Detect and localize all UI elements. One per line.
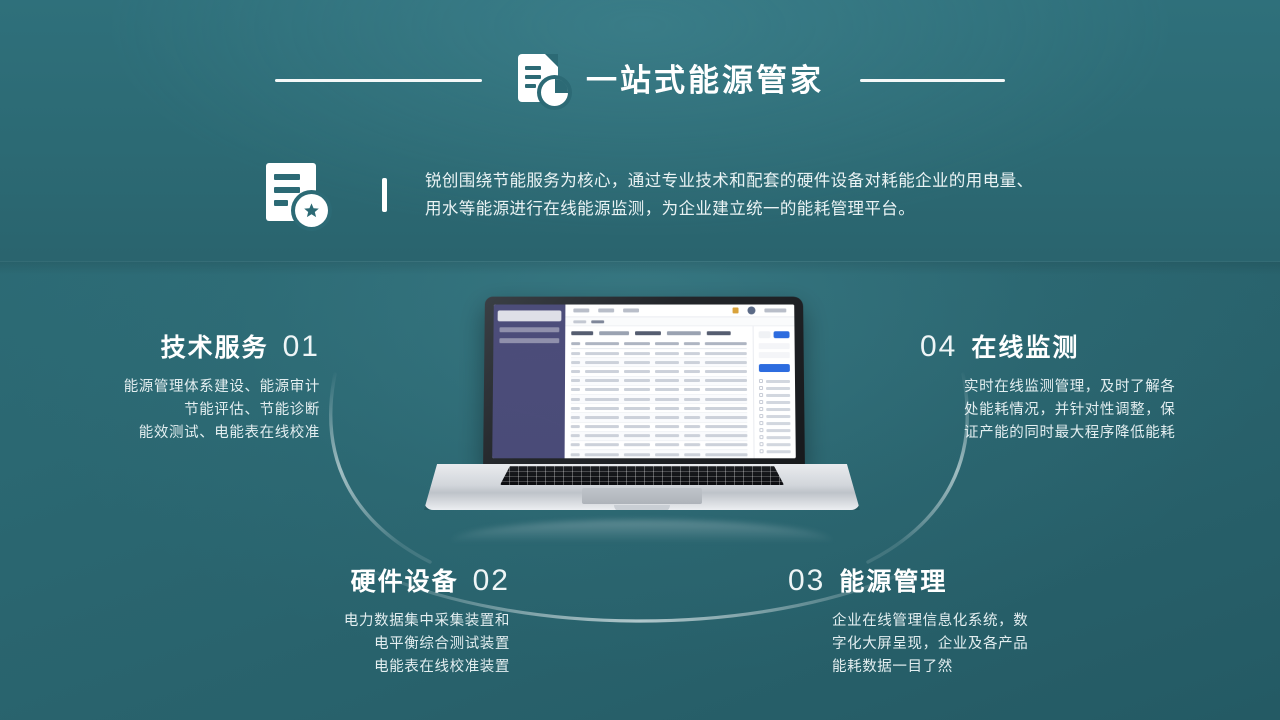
feature-line: 证产能的同时最大程序降低能耗 <box>964 422 1280 445</box>
table-row <box>571 386 747 395</box>
dashboard-filter-panel <box>753 326 796 458</box>
feature-line: 能效测试、电能表在线校准 <box>0 422 320 445</box>
intro-line-2: 用水等能源进行在线能源监测，为企业建立统一的能耗管理平台。 <box>425 195 1033 223</box>
intro-line-1: 锐创围绕节能服务为核心，通过专业技术和配套的硬件设备对耗能企业的用电量、 <box>425 167 1033 195</box>
feature-line: 电平衡综合测试装置 <box>30 633 510 656</box>
feature-block-04: 04 在线监测 实时在线监测管理，及时了解各 处能耗情况，并针对性调整，保 证产… <box>920 328 1280 445</box>
keyboard <box>500 466 784 485</box>
table-row <box>571 450 748 458</box>
dashboard-nav-item <box>499 338 559 343</box>
list-item <box>760 428 791 432</box>
feature-title: 技术服务 <box>161 328 269 364</box>
feature-number: 03 <box>788 564 825 598</box>
lid-notch <box>614 505 670 512</box>
table-row <box>571 413 747 422</box>
trackpad <box>582 488 702 504</box>
table-row <box>572 358 748 367</box>
search-row[interactable] <box>759 331 789 338</box>
feature-number: 01 <box>283 330 320 364</box>
divider-line-left-icon <box>275 79 482 82</box>
list-item <box>760 442 791 446</box>
dashboard-topbar <box>566 305 795 318</box>
dropdown-select[interactable] <box>759 343 790 349</box>
feature-line: 能源管理体系建设、能源审计 <box>0 376 320 399</box>
brand-lockup: 一站式能源管家 <box>518 54 824 106</box>
intro-block: 锐创围绕节能服务为核心，通过专业技术和配套的硬件设备对耗能企业的用电量、 用水等… <box>266 163 1033 227</box>
table-row <box>571 395 747 404</box>
title-row: 一站式能源管家 <box>0 52 1280 108</box>
document-pie-chart-icon <box>518 54 568 106</box>
list-item <box>760 414 791 418</box>
feature-title: 在线监测 <box>971 328 1079 364</box>
primary-action-button[interactable] <box>759 364 790 372</box>
feature-line: 企业在线管理信息化系统，数 <box>832 610 1208 633</box>
avatar <box>747 306 755 314</box>
page-title: 一站式能源管家 <box>586 65 824 96</box>
laptop-base <box>424 464 860 510</box>
dashboard-sidebar <box>492 305 566 459</box>
table-header <box>572 339 748 349</box>
list-item <box>760 407 791 411</box>
table-row <box>571 404 747 413</box>
intro-separator <box>382 178 387 212</box>
search-button[interactable] <box>774 331 790 338</box>
list-item <box>759 379 790 383</box>
table-row <box>571 377 747 386</box>
feature-number: 04 <box>920 330 957 364</box>
feature-title: 能源管理 <box>839 562 947 598</box>
feature-line: 节能评估、节能诊断 <box>0 399 320 422</box>
feature-line: 字化大屏呈现，企业及各产品 <box>832 633 1208 656</box>
feature-line: 能耗数据一目了然 <box>832 656 1208 679</box>
divider-line-right-icon <box>860 79 1005 82</box>
slide-canvas: 一站式能源管家 锐创围绕节能服务为核心，通过专业技术和配套的硬件设备对耗能企业的… <box>0 0 1280 720</box>
breadcrumb <box>566 317 795 326</box>
dashboard-nav-item <box>499 327 559 332</box>
dashboard-main <box>565 305 796 459</box>
table-row <box>572 349 748 358</box>
dropdown-select[interactable] <box>759 352 790 358</box>
laptop-mockup <box>424 296 860 528</box>
feature-block-03: 03 能源管理 企业在线管理信息化系统，数 字化大屏呈现，企业及各产品 能耗数据… <box>788 562 1208 679</box>
feature-block-02: 硬件设备 02 电力数据集中采集装置和 电平衡综合测试装置 电能表在线校准装置 <box>30 562 510 679</box>
list-item <box>760 449 791 453</box>
data-table <box>565 326 754 458</box>
edit-icon <box>733 307 739 313</box>
document-star-icon <box>266 163 328 227</box>
list-item <box>760 421 791 425</box>
feature-block-01: 技术服务 01 能源管理体系建设、能源审计 节能评估、节能诊断 能效测试、电能表… <box>0 328 320 445</box>
table-filters <box>572 331 747 335</box>
feature-line: 实时在线监测管理，及时了解各 <box>964 376 1280 399</box>
feature-line: 处能耗情况，并针对性调整，保 <box>964 399 1280 422</box>
table-row <box>571 367 747 376</box>
list-item <box>760 386 791 390</box>
table-row <box>571 441 748 450</box>
list-item <box>760 393 791 397</box>
laptop-lid <box>483 297 805 469</box>
feature-title: 硬件设备 <box>351 562 459 598</box>
feature-line: 电力数据集中采集装置和 <box>30 610 510 633</box>
list-item <box>760 400 791 404</box>
table-row <box>571 423 748 432</box>
laptop-reflection <box>450 520 834 542</box>
search-input[interactable] <box>759 331 771 338</box>
feature-line: 电能表在线校准装置 <box>30 656 510 679</box>
table-row <box>571 432 748 441</box>
intro-text: 锐创围绕节能服务为核心，通过专业技术和配套的硬件设备对耗能企业的用电量、 用水等… <box>425 167 1033 223</box>
list-item <box>760 435 791 439</box>
dashboard-logo <box>498 310 562 321</box>
feature-number: 02 <box>473 564 510 598</box>
dashboard-screenshot <box>492 305 796 459</box>
